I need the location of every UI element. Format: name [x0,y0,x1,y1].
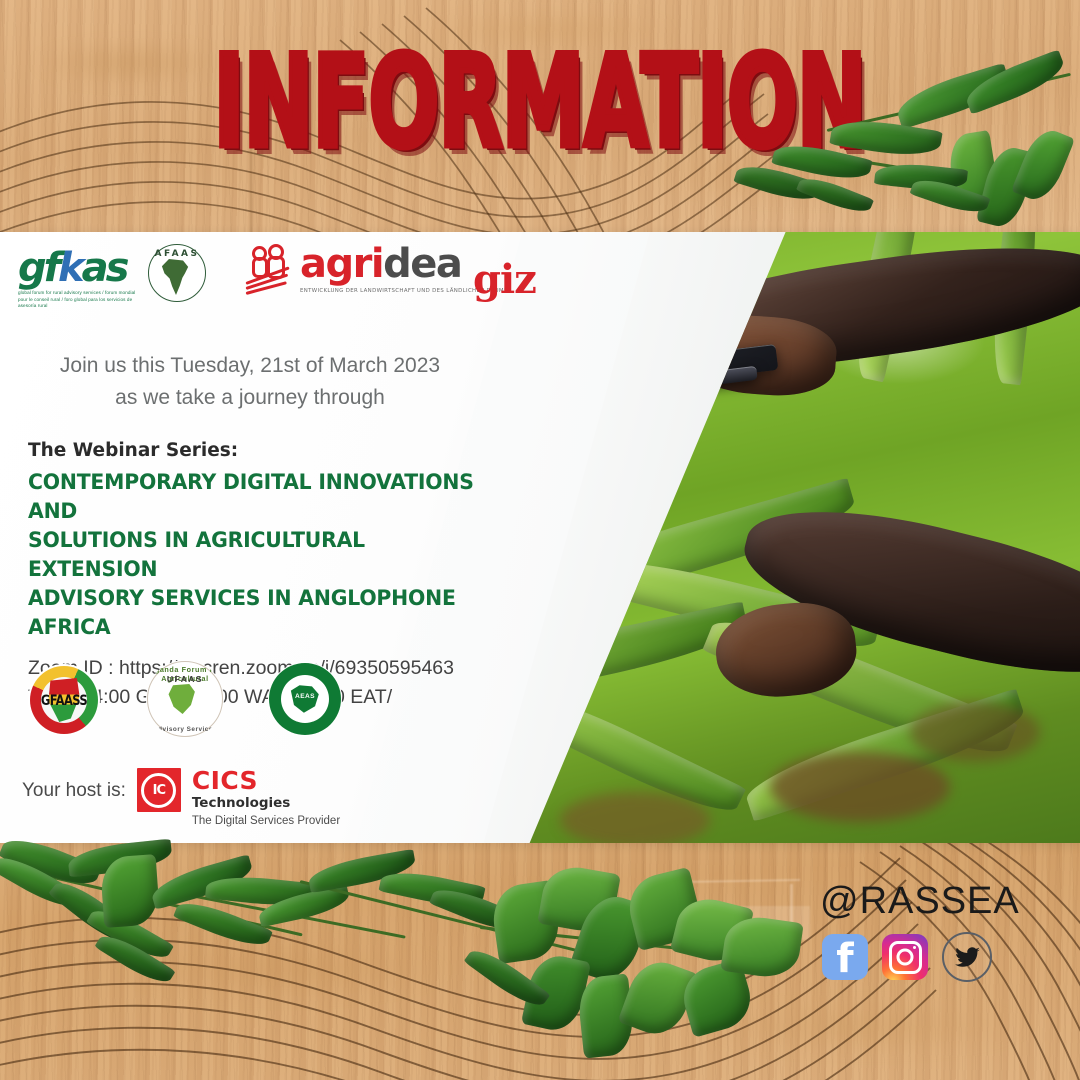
series-title-line-1: CONTEMPORARY DIGITAL INNOVATIONS AND [28,468,484,526]
gfras-logo: gfkas global forum for rural advisory se… [18,248,138,310]
cics-name: CICS [192,768,340,793]
agridea-people-icon [248,244,294,288]
africa-map-icon [160,259,192,295]
ufaas-uganda-logo: Uganda Forum for Agricultural UFAAS Advi… [146,660,224,738]
invite-line-2: as we take a journey through [0,382,500,414]
gfras-tagline: global forum for rural advisory services… [18,290,138,310]
cics-tagline: The Digital Services Provider [192,815,340,827]
gfaass-ghana-logo: GFAASS [28,664,100,736]
giz-logo: giz [473,260,536,300]
host-label: Your host is: [22,768,126,802]
series-title-line-3: ADVISORY SERVICES IN ANGLOPHONE AFRICA [28,584,484,642]
series-label: The Webinar Series: [28,440,498,461]
host-block: Your host is: IC CICS Technologies The D… [22,768,340,827]
twitter-icon[interactable] [942,932,992,982]
facebook-icon[interactable]: f [822,934,868,980]
cics-subtitle: Technologies [192,793,340,813]
series-title-line-2: SOLUTIONS IN AGRICULTURAL EXTENSION [28,526,484,584]
webinar-flyer: gfkas global forum for rural advisory se… [0,232,1080,843]
invite-text: Join us this Tuesday, 21st of March 2023… [0,350,500,413]
afaas-wordmark: AFAAS [149,249,205,259]
naeas-wordmark: AEAS [268,693,342,700]
facebook-glyph: f [836,943,853,977]
series-title: CONTEMPORARY DIGITAL INNOVATIONS AND SOL… [28,468,484,642]
naeas-nigeria-logo: AEAS [268,662,342,736]
ufaas-bottom-text: Advisory Services [146,726,224,733]
country-forum-logos: GFAASS Uganda Forum for Agricultural UFA… [28,664,358,744]
gfaass-wordmark: GFAASS [28,691,100,709]
cics-monogram: IC [153,784,165,797]
instagram-icon[interactable] [882,934,928,980]
social-handle: @RASSEA [820,880,1020,923]
partner-logo-strip: gfkas global forum for rural advisory se… [0,232,660,324]
gfras-wordmark: gfkas [18,248,138,288]
afaas-logo: AFAAS [148,244,206,302]
invite-line-1: Join us this Tuesday, 21st of March 2023 [0,350,500,382]
cics-logo-mark: IC [137,768,181,812]
agridea-logo: agridea ENTWICKLUNG DER LANDWIRTSCHAFT U… [248,244,508,295]
poster-canvas: INFORMATION [0,0,1080,1080]
ufaas-wordmark: UFAAS [146,674,224,684]
social-links: f [822,932,992,982]
